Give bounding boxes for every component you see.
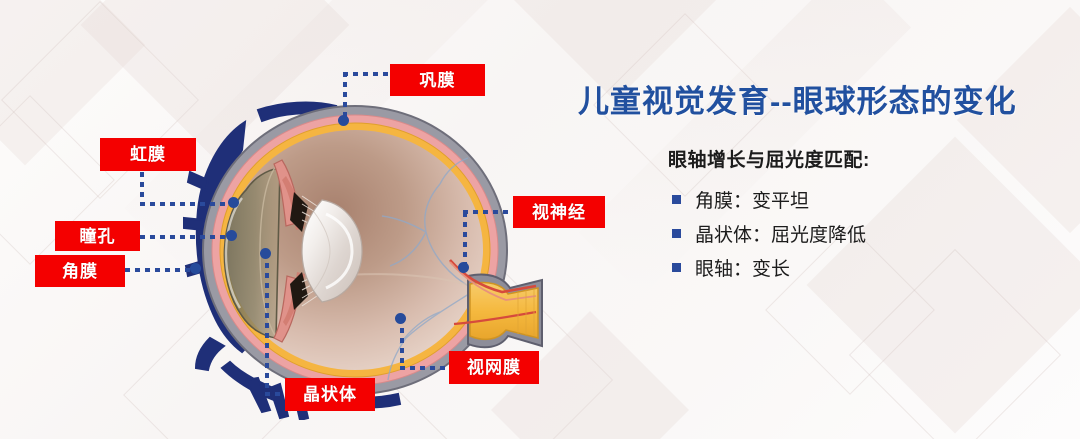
connector-dot-optic-nerve bbox=[458, 262, 469, 273]
bullet-square-icon bbox=[672, 229, 681, 238]
bullet-item: 眼轴：变长 bbox=[672, 250, 866, 284]
bullet-text: 晶状体：屈光度降低 bbox=[695, 220, 866, 247]
bullet-square-icon bbox=[672, 195, 681, 204]
connector-pupil-horizontal bbox=[140, 235, 230, 239]
bullet-square-icon bbox=[672, 263, 681, 272]
connector-dot-lens bbox=[260, 248, 271, 259]
connector-sclera-horizontal bbox=[343, 72, 391, 76]
label-retina[interactable]: 视网膜 bbox=[449, 351, 539, 384]
connector-dot-iris bbox=[228, 197, 239, 208]
bullet-text: 角膜：变平坦 bbox=[695, 186, 809, 213]
connector-dot-sclera bbox=[338, 115, 349, 126]
connector-optic-nerve-horizontal bbox=[463, 210, 515, 214]
connector-iris-horizontal bbox=[140, 202, 232, 206]
bullet-text: 眼轴：变长 bbox=[695, 254, 790, 281]
connector-dot-retina bbox=[395, 313, 406, 324]
slide-headline: 儿童视觉发育--眼球形态的变化 bbox=[578, 76, 1017, 121]
label-pupil[interactable]: 瞳孔 bbox=[55, 221, 140, 251]
connector-dot-pupil bbox=[226, 230, 237, 241]
bullet-list: 角膜：变平坦 晶状体：屈光度降低 眼轴：变长 bbox=[672, 182, 866, 284]
bullet-item: 晶状体：屈光度降低 bbox=[672, 216, 866, 250]
connector-cornea-horizontal bbox=[125, 268, 195, 272]
connector-retina-horizontal bbox=[400, 366, 452, 370]
label-lens[interactable]: 晶状体 bbox=[285, 378, 375, 411]
connector-lens-vertical bbox=[265, 253, 269, 393]
connector-retina-vertical bbox=[400, 318, 404, 368]
slide-canvas: 巩膜 虹膜 瞳孔 角膜 视神经 视网膜 晶状体 儿童视觉发育--眼球形态的变化 … bbox=[0, 0, 1080, 439]
label-sclera[interactable]: 巩膜 bbox=[390, 64, 485, 96]
bullet-item: 角膜：变平坦 bbox=[672, 182, 866, 216]
label-optic-nerve[interactable]: 视神经 bbox=[513, 196, 605, 228]
connector-iris-vertical bbox=[140, 172, 144, 206]
connector-dot-cornea bbox=[190, 263, 201, 274]
label-iris[interactable]: 虹膜 bbox=[100, 138, 196, 171]
slide-subheading: 眼轴增长与屈光度匹配: bbox=[668, 145, 870, 172]
bg-rhombus bbox=[849, 249, 1061, 439]
connector-sclera-vertical bbox=[343, 72, 347, 120]
label-cornea[interactable]: 角膜 bbox=[35, 255, 125, 287]
